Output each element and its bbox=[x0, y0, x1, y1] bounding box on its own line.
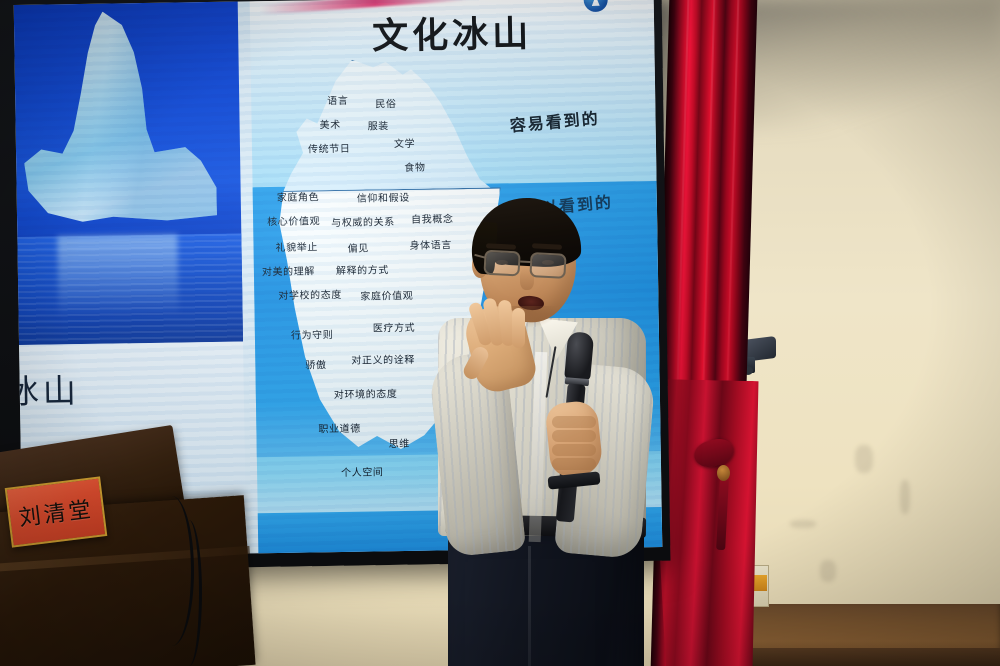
nose bbox=[520, 268, 534, 290]
label-below-5: 礼貌举止 bbox=[275, 238, 318, 254]
above-water-heading: 容易看到的 bbox=[509, 105, 601, 137]
finger bbox=[512, 308, 525, 348]
label-below-9: 解释的方式 bbox=[336, 261, 389, 277]
lens-right bbox=[529, 252, 566, 279]
label-below-10: 对学校的态度 bbox=[278, 286, 342, 302]
label-above-4: 文学 bbox=[394, 135, 415, 150]
floor-strip bbox=[730, 648, 1000, 666]
cable bbox=[176, 520, 202, 666]
label-below-19: 个人空间 bbox=[341, 463, 384, 479]
label-below-11: 家庭价值观 bbox=[360, 287, 413, 303]
slide-title: 文化冰山 bbox=[250, 3, 655, 61]
name-card: 刘清堂 bbox=[5, 476, 108, 547]
glasses-bridge bbox=[520, 260, 532, 263]
label-below-8: 对美的理解 bbox=[262, 262, 315, 278]
label-below-6: 偏见 bbox=[347, 240, 368, 255]
trouser-crease bbox=[528, 546, 531, 666]
sea-reflection bbox=[57, 235, 178, 333]
label-above-0: 语言 bbox=[327, 92, 348, 107]
label-below-17: 职业道德 bbox=[318, 420, 361, 436]
knuckle bbox=[552, 416, 596, 428]
label-below-2: 核心价值观 bbox=[267, 212, 320, 228]
microphone-head bbox=[564, 331, 594, 381]
wall-mark bbox=[900, 480, 910, 514]
lens-left bbox=[483, 250, 520, 277]
name-card-text: 刘清堂 bbox=[17, 492, 95, 533]
knuckle bbox=[552, 444, 596, 456]
knuckle bbox=[552, 430, 596, 442]
label-below-13: 医疗方式 bbox=[373, 319, 416, 335]
label-below-3: 与权威的关系 bbox=[331, 213, 395, 229]
wall-mark bbox=[790, 520, 816, 528]
label-below-15: 对正义的诠释 bbox=[351, 351, 415, 367]
iceberg-photo-shading bbox=[22, 10, 218, 241]
curtain-tassel bbox=[717, 465, 730, 481]
label-above-1: 民俗 bbox=[375, 95, 396, 110]
iceberg-photo-panel bbox=[14, 2, 243, 345]
presenter bbox=[432, 196, 662, 666]
label-above-2: 美术 bbox=[319, 116, 340, 131]
wall-mark bbox=[855, 445, 873, 473]
label-below-0: 家庭角色 bbox=[277, 188, 320, 204]
label-above-5: 传统节日 bbox=[308, 140, 351, 156]
label-below-12: 行为守则 bbox=[291, 326, 334, 342]
lecture-scene: 冰山 文化冰山 容易看到的 语言 民俗 美术 服装 文学 传统节日 食物 难以看… bbox=[0, 0, 1000, 666]
label-above-6: 食物 bbox=[404, 159, 425, 174]
label-below-16: 对环境的态度 bbox=[334, 385, 398, 401]
label-below-1: 信仰和假设 bbox=[357, 189, 410, 205]
label-below-14: 骄傲 bbox=[305, 356, 326, 371]
knuckle bbox=[552, 458, 596, 470]
label-above-3: 服装 bbox=[368, 117, 389, 132]
label-below-18: 思维 bbox=[389, 435, 410, 450]
photo-caption: 冰山 bbox=[14, 362, 196, 413]
wall-mark bbox=[820, 560, 836, 582]
